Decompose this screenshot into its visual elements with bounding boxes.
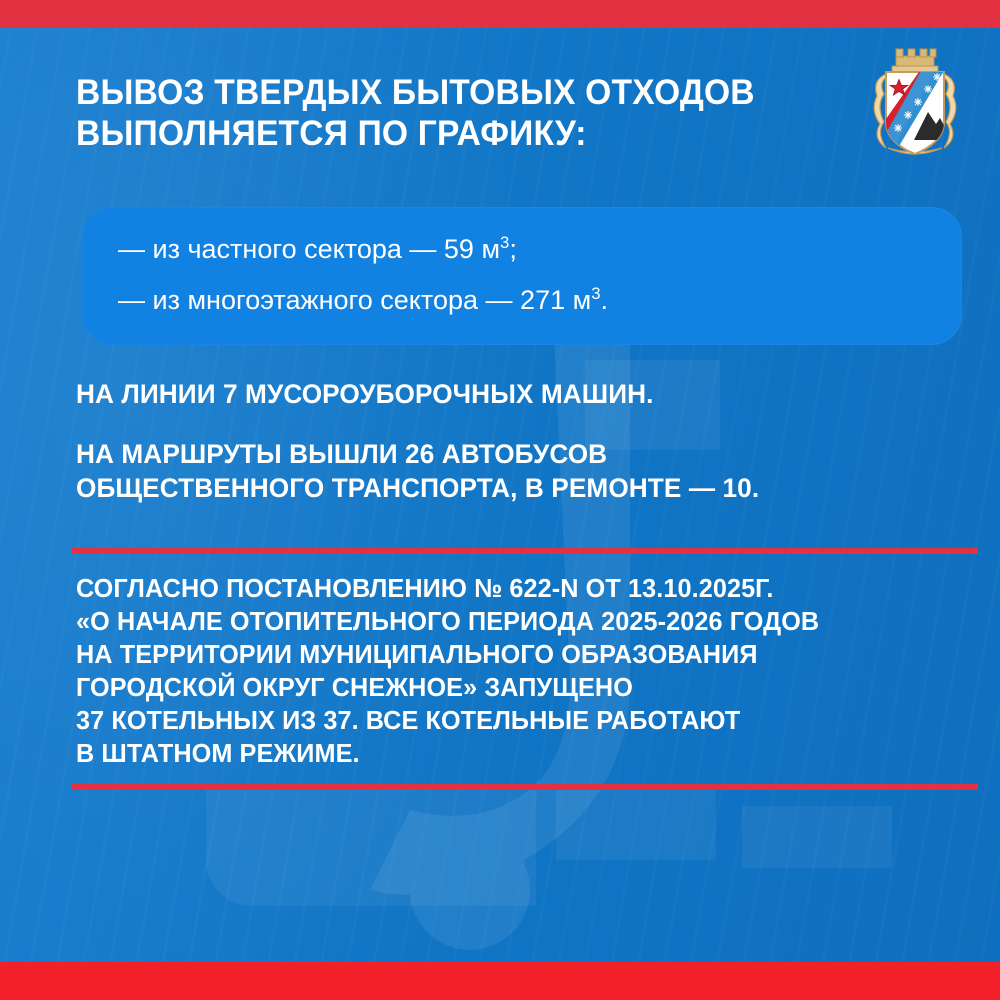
list-item-tail: ; [509,234,517,264]
list-item-label: из частного сектора [153,234,402,264]
stat-paragraph-buses: НА МАРШРУТЫ ВЫШЛИ 26 АВТОБУСОВ ОБЩЕСТВЕН… [76,437,930,505]
list-item-value: 59 [444,234,474,264]
list-item-exponent: 3 [591,284,600,303]
page-title-line-1: ВЫВОЗ ТВЕРДЫХ БЫТОВЫХ ОТХОДОВ [76,72,815,113]
mural-crown [892,49,938,73]
poster-content: ВЫВОЗ ТВЕРДЫХ БЫТОВЫХ ОТХОДОВ ВЫПОЛНЯЕТС… [0,0,1000,1000]
stat-paragraph-vehicles: НА ЛИНИИ 7 МУСОРОУБОРОЧНЫХ МАШИН. [76,377,930,411]
list-item-separator: — [486,285,513,315]
stat-line: НА МАРШРУТЫ ВЫШЛИ 26 АВТОБУСОВ [76,437,930,471]
list-item-dash: — [118,285,145,315]
list-item-value: 271 [520,285,565,315]
stat-line: ОБЩЕСТВЕННОГО ТРАНСПОРТА, В РЕМОНТЕ — 10… [76,471,930,505]
page-title: ВЫВОЗ ТВЕРДЫХ БЫТОВЫХ ОТХОДОВ ВЫПОЛНЯЕТС… [76,72,815,154]
divider-top [72,548,978,554]
list-item: — из многоэтажного сектора — 271 м3. [118,284,608,316]
list-item: — из частного сектора — 59 м3; [118,233,517,265]
waste-volume-card: — из частного сектора — 59 м3; — из мног… [82,207,962,345]
page-title-line-2: ВЫПОЛНЯЕТСЯ ПО ГРАФИКУ: [76,113,815,154]
decree-line: СОГЛАСНО ПОСТАНОВЛЕНИЮ № 622-N ОТ 13.10.… [76,572,949,605]
decree-line: 37 КОТЕЛЬНЫХ ИЗ 37. ВСЕ КОТЕЛЬНЫЕ РАБОТА… [76,704,949,737]
decree-block: СОГЛАСНО ПОСТАНОВЛЕНИЮ № 622-N ОТ 13.10.… [76,572,949,770]
stat-line: НА ЛИНИИ 7 МУСОРОУБОРОЧНЫХ МАШИН. [76,377,930,411]
list-item-tail: . [601,285,609,315]
list-item-label: из многоэтажного сектора [153,285,479,315]
list-item-separator: — [409,234,436,264]
list-item-unit: м [481,234,500,264]
list-item-dash: — [118,234,145,264]
decree-line: «О НАЧАЛЕ ОТОПИТЕЛЬНОГО ПЕРИОДА 2025-202… [76,605,949,638]
decree-line: НА ТЕРРИТОРИИ МУНИЦИПАЛЬНОГО ОБРАЗОВАНИЯ [76,638,949,671]
list-item-unit: м [573,285,592,315]
list-item-exponent: 3 [500,233,509,252]
decree-line: ГОРОДСКОЙ ОКРУГ СНЕЖНОЕ» ЗАПУЩЕНО [76,671,949,704]
divider-bottom [72,784,978,790]
stats-block: НА ЛИНИИ 7 МУСОРОУБОРОЧНЫХ МАШИН. НА МАР… [76,377,930,505]
coat-of-arms-icon [866,36,964,164]
decree-line: В ШТАТНОМ РЕЖИМЕ. [76,737,949,770]
poster-root: ВЫВОЗ ТВЕРДЫХ БЫТОВЫХ ОТХОДОВ ВЫПОЛНЯЕТС… [0,0,1000,1000]
